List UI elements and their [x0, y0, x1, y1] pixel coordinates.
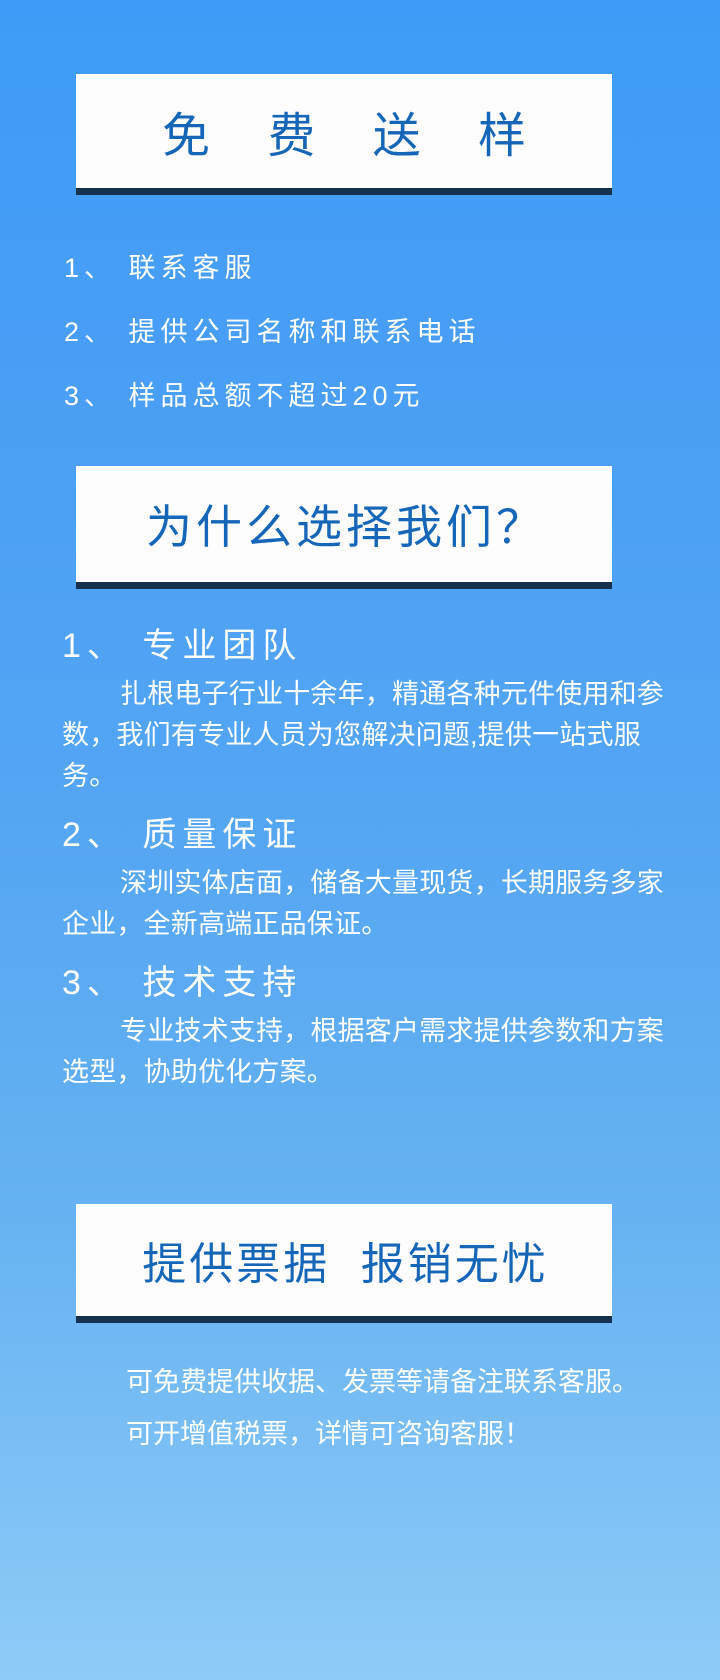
footer-note-line: 可开增值税票，详情可咨询客服！ [62, 1408, 670, 1460]
step-item: 3、 样品总额不超过20元 [64, 364, 664, 428]
reason-title: 1、 专业团队 [62, 620, 672, 672]
reason-body: 扎根电子行业十余年，精通各种元件使用和参数，我们有专业人员为您解决问题,提供一站… [62, 674, 664, 797]
banner-why-choose-us-text: 为什么选择我们？ [76, 491, 612, 557]
promo-page: 免 费 送 样 1、 联系客服 2、 提供公司名称和联系电话 3、 样品总额不超… [0, 0, 720, 1680]
banner-invoice-text: 提供票据 报销无忧 [76, 1228, 612, 1292]
reason-block: 2、 质量保证 深圳实体店面，储备大量现货，长期服务多家企业，全新高端正品保证。 [62, 809, 672, 945]
reason-body: 深圳实体店面，储备大量现货，长期服务多家企业，全新高端正品保证。 [62, 863, 664, 945]
reason-block: 1、 专业团队 扎根电子行业十余年，精通各种元件使用和参数，我们有专业人员为您解… [62, 620, 672, 797]
banner-invoice-reimbursement: 提供票据 报销无忧 [76, 1204, 612, 1316]
reason-title: 2、 质量保证 [62, 809, 672, 861]
banner-free-sample: 免 费 送 样 [76, 74, 612, 188]
reason-body: 专业技术支持，根据客户需求提供参数和方案选型，协助优化方案。 [62, 1011, 664, 1093]
step-item: 2、 提供公司名称和联系电话 [64, 300, 664, 364]
free-sample-steps: 1、 联系客服 2、 提供公司名称和联系电话 3、 样品总额不超过20元 [64, 236, 664, 428]
footer-note-line: 可免费提供收据、发票等请备注联系客服。 [62, 1356, 670, 1408]
invoice-footer-note: 可免费提供收据、发票等请备注联系客服。 可开增值税票，详情可咨询客服！ [62, 1356, 670, 1460]
reason-title: 3、 技术支持 [62, 957, 672, 1009]
step-item: 1、 联系客服 [64, 236, 664, 300]
banner-free-sample-text: 免 费 送 样 [76, 96, 612, 166]
reason-block: 3、 技术支持 专业技术支持，根据客户需求提供参数和方案选型，协助优化方案。 [62, 957, 672, 1093]
reasons-list: 1、 专业团队 扎根电子行业十余年，精通各种元件使用和参数，我们有专业人员为您解… [62, 620, 672, 1105]
banner-why-choose-us: 为什么选择我们？ [76, 466, 612, 582]
